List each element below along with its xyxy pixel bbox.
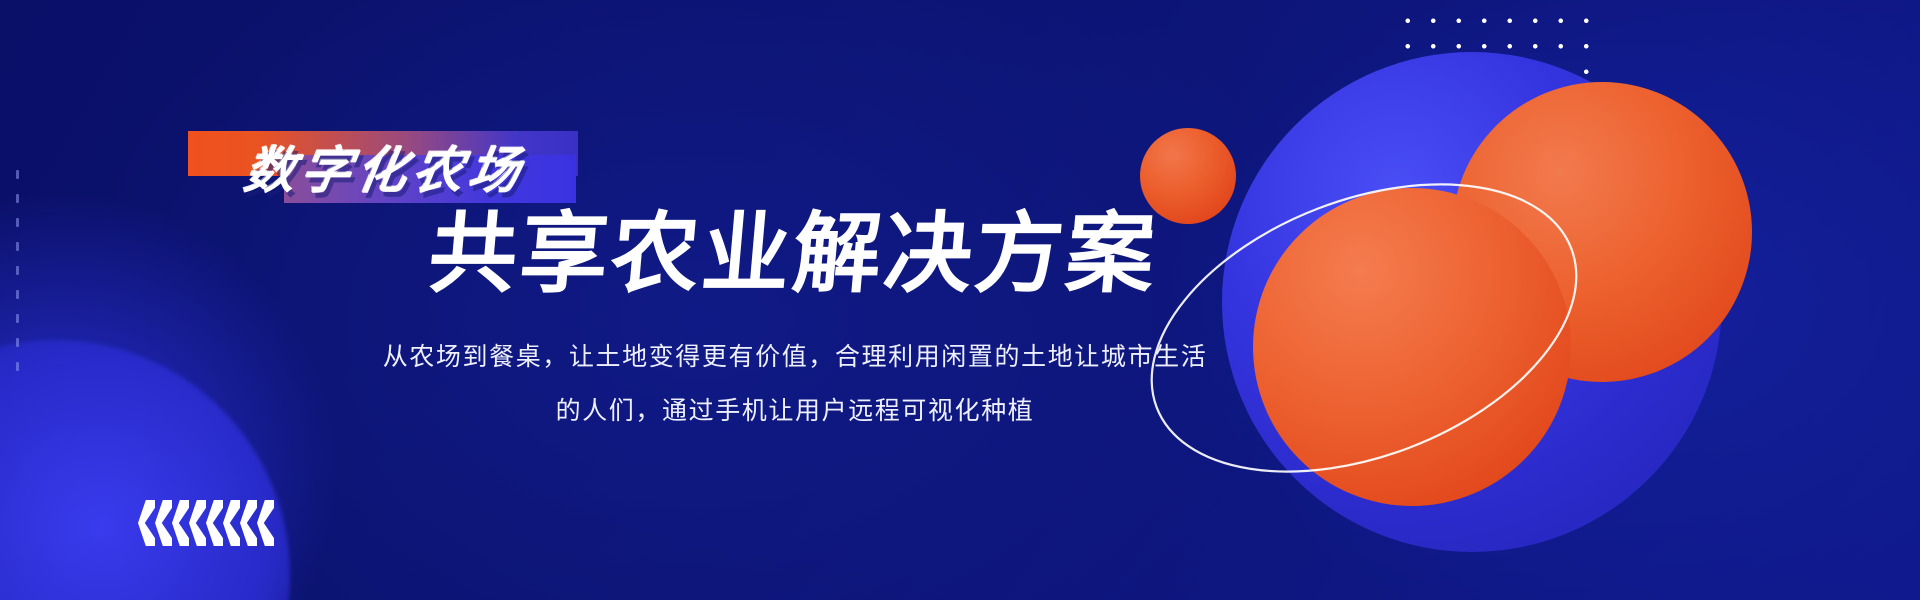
tick-marks-decoration bbox=[16, 170, 19, 371]
tick-mark bbox=[16, 242, 19, 251]
orange-sphere-front bbox=[1253, 188, 1571, 506]
chevron-left-icon bbox=[189, 500, 206, 546]
tick-mark bbox=[16, 290, 19, 299]
subtitle-block: 从农场到餐桌，让土地变得更有价值，合理利用闲置的土地让城市生活 的人们，通过手机… bbox=[355, 330, 1235, 438]
tick-mark bbox=[16, 218, 19, 227]
chevron-left-icon bbox=[223, 500, 240, 546]
tick-mark bbox=[16, 314, 19, 323]
chevron-left-icon bbox=[138, 500, 155, 546]
chevron-left-icon bbox=[206, 500, 223, 546]
chevron-left-icon bbox=[257, 500, 274, 546]
page-title: 共享农业解决方案 bbox=[426, 196, 1175, 296]
chevron-left-icon bbox=[172, 500, 189, 546]
subtitle-line-1: 从农场到餐桌，让土地变得更有价值，合理利用闲置的土地让城市生活 bbox=[355, 330, 1235, 384]
tick-mark bbox=[16, 194, 19, 203]
subtitle-line-2: 的人们，通过手机让用户远程可视化种植 bbox=[355, 384, 1235, 438]
chevron-left-icon bbox=[155, 500, 172, 546]
tick-mark bbox=[16, 170, 19, 179]
tick-mark bbox=[16, 362, 19, 371]
tick-mark bbox=[16, 266, 19, 275]
chevron-left-icon-group bbox=[138, 500, 274, 546]
chevron-left-icon bbox=[240, 500, 257, 546]
tick-mark bbox=[16, 338, 19, 347]
promo-banner: 数字化农场 共享农业解决方案 从农场到餐桌，让土地变得更有价值，合理利用闲置的土… bbox=[0, 0, 1920, 600]
